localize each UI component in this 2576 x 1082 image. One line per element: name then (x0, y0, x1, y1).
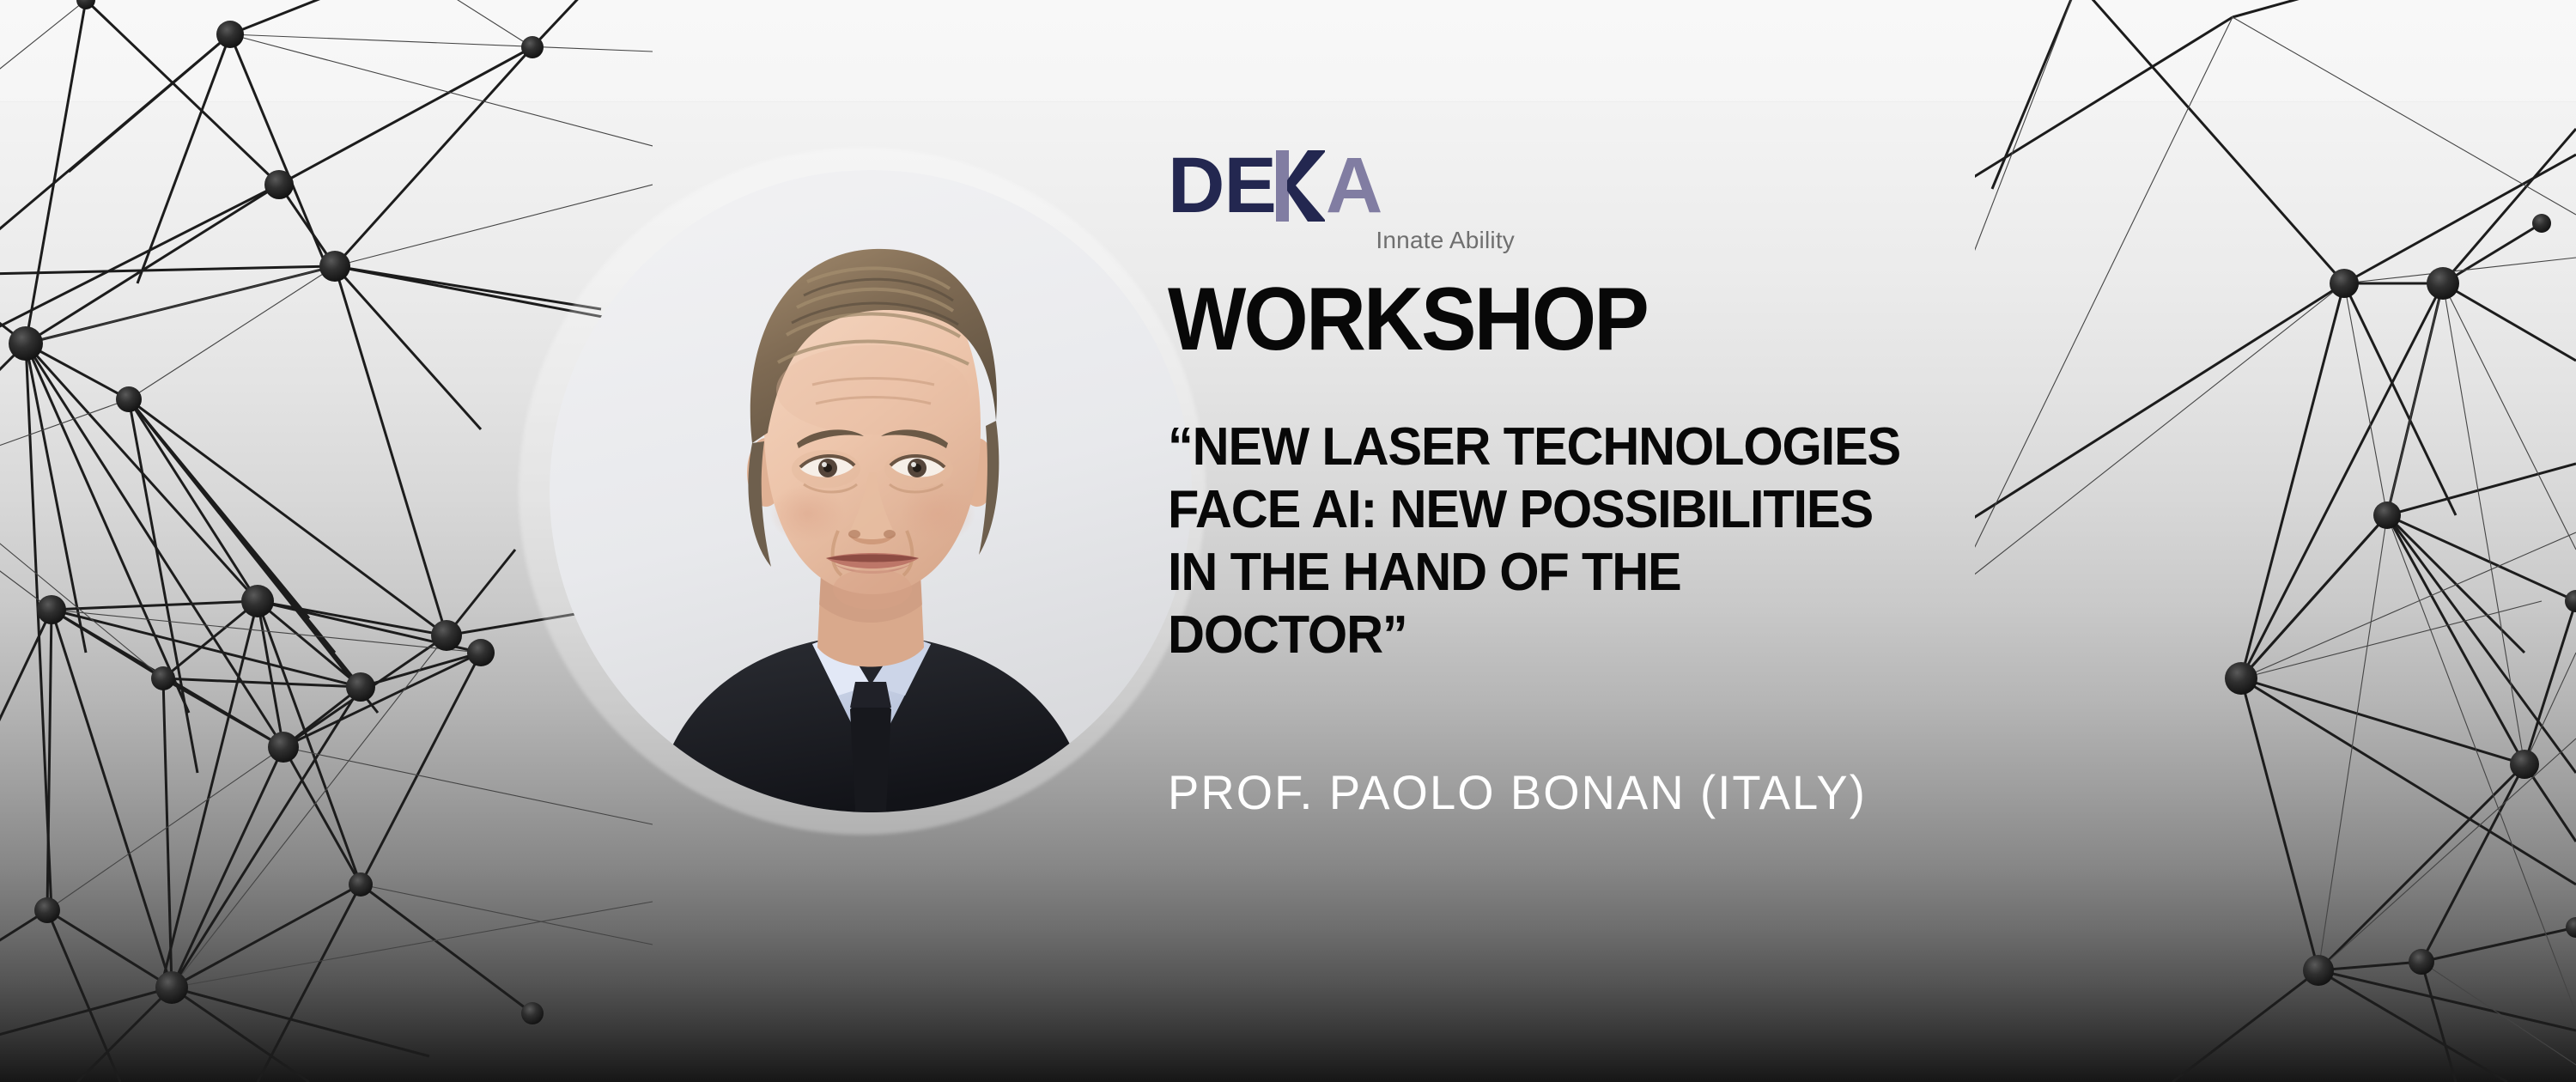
workshop-title-line-4: DOCTOR” (1168, 605, 2116, 667)
workshop-title-line-3: IN THE HAND OF THE (1168, 542, 2116, 605)
deka-logo: DEA Innate Ability (1168, 146, 1546, 254)
deka-logo-k (1276, 146, 1326, 225)
workshop-title-line-1: “NEW LASER TECHNOLOGIES (1168, 416, 2116, 479)
workshop-banner: DEA Innate Ability WORKSHOP “NEW LASER T… (0, 0, 2576, 1082)
deka-logo-a: A (1326, 142, 1382, 229)
deka-logo-k-chevron (1287, 150, 1327, 222)
speaker-portrait (550, 170, 1192, 812)
deka-logo-tagline: Innate Ability (1168, 227, 1515, 254)
workshop-title: “NEW LASER TECHNOLOGIES FACE AI: NEW POS… (1168, 416, 2116, 666)
speaker-name: PROF. PAOLO BONAN (ITALY) (1168, 769, 1867, 817)
banner-content: DEA Innate Ability WORKSHOP “NEW LASER T… (1168, 0, 2507, 1082)
workshop-title-line-2: FACE AI: NEW POSSIBILITIES (1168, 479, 2116, 542)
deka-logo-de: DE (1168, 142, 1276, 229)
workshop-kicker: WORKSHOP (1168, 275, 1647, 364)
deka-logo-wordmark: DEA (1168, 146, 1546, 225)
